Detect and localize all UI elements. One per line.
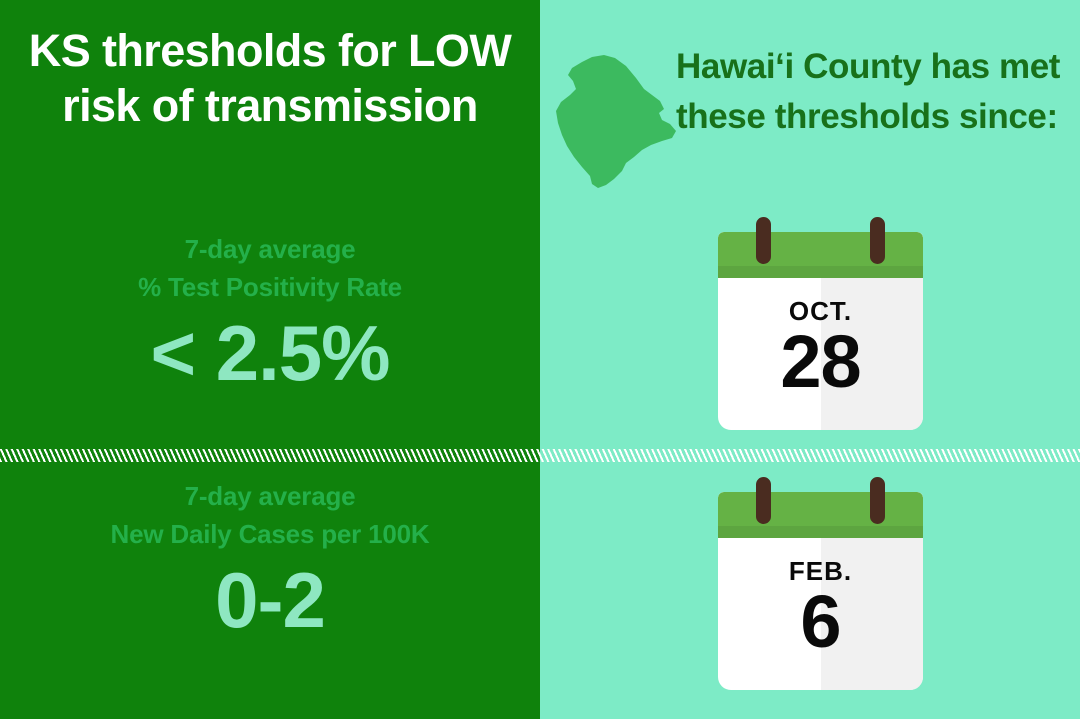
metric-label: 7-day average New Daily Cases per 100K bbox=[0, 478, 540, 553]
infographic-root: KS thresholds for LOW risk of transmissi… bbox=[0, 0, 1080, 719]
calendar-ring-icon bbox=[756, 477, 771, 524]
calendar-date-october: OCT. 28 bbox=[718, 232, 923, 430]
calendar-ring-icon bbox=[870, 477, 885, 524]
metric-new-daily-cases: 7-day average New Daily Cases per 100K 0… bbox=[0, 478, 540, 642]
metric-value: 0-2 bbox=[0, 560, 540, 642]
calendar-header-bar bbox=[718, 232, 923, 278]
hawaii-island-icon bbox=[552, 45, 678, 193]
section-divider bbox=[0, 449, 1080, 462]
calendar-ring-icon bbox=[756, 217, 771, 264]
page-title: KS thresholds for LOW risk of transmissi… bbox=[18, 24, 522, 134]
calendar-ring-icon bbox=[870, 217, 885, 264]
calendar-day: 28 bbox=[718, 325, 923, 399]
calendar-header-bar bbox=[718, 492, 923, 538]
calendar-date-february: FEB. 6 bbox=[718, 492, 923, 690]
right-panel-heading: Hawai‘i County has met these thresholds … bbox=[676, 42, 1062, 143]
metric-label: 7-day average % Test Positivity Rate bbox=[0, 231, 540, 306]
metric-label-line2: New Daily Cases per 100K bbox=[0, 516, 540, 554]
metric-test-positivity: 7-day average % Test Positivity Rate < 2… bbox=[0, 231, 540, 395]
metric-label-line1: 7-day average bbox=[0, 478, 540, 516]
calendar-header-shadow bbox=[718, 526, 923, 538]
metric-value: < 2.5% bbox=[0, 313, 540, 395]
calendar-day: 6 bbox=[718, 585, 923, 659]
calendar-header-shadow bbox=[718, 266, 923, 278]
metric-label-line2: % Test Positivity Rate bbox=[0, 269, 540, 307]
metric-label-line1: 7-day average bbox=[0, 231, 540, 269]
